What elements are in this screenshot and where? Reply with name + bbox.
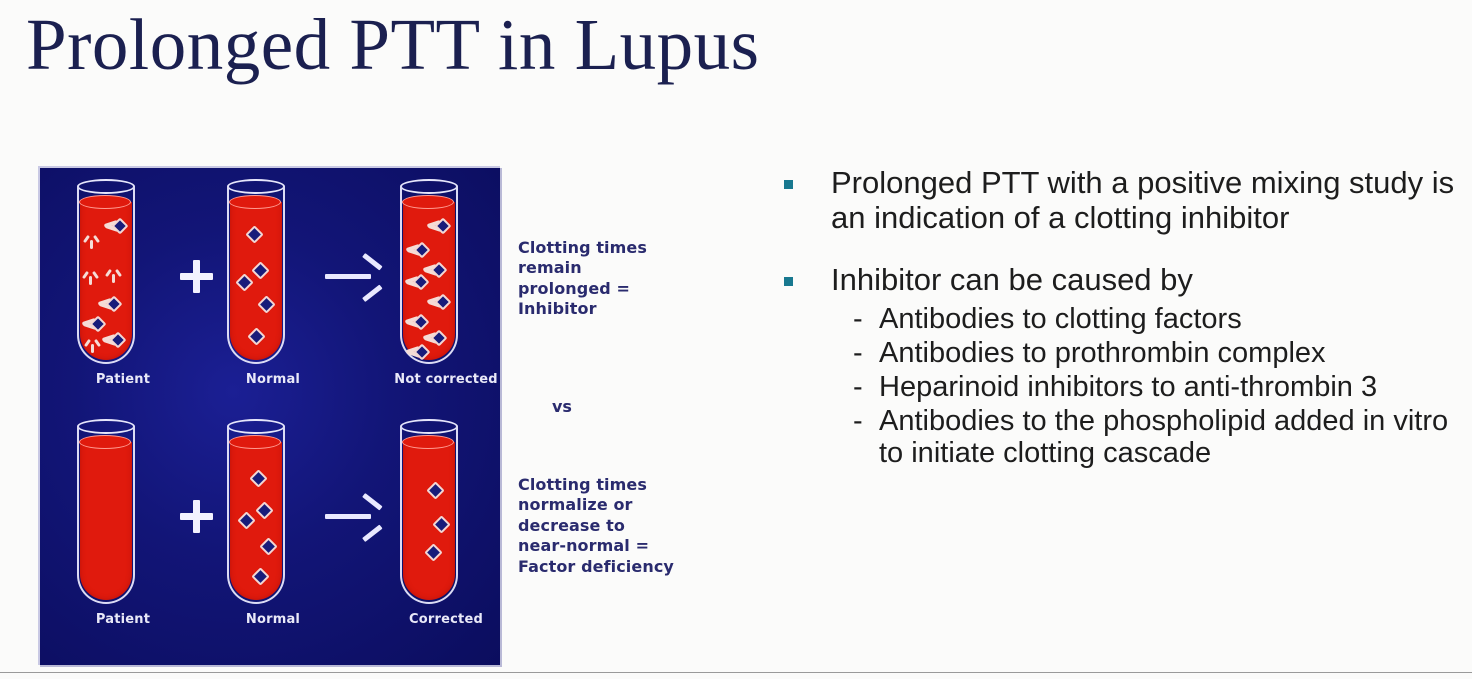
antibody-factor-complex-icon: [104, 218, 126, 234]
caption-vs: vs: [552, 397, 572, 416]
antibody-icon: [84, 234, 100, 249]
sub-bullet-item: - Antibodies to the phospholipid added i…: [831, 406, 1465, 470]
clotting-factor-icon: [257, 295, 275, 313]
sub-bullet-item: - Heparinoid inhibitors to anti-thrombin…: [831, 372, 1465, 404]
sub-bullet-text: Heparinoid inhibitors to anti-thrombin 3: [879, 371, 1377, 403]
tube-label: Patient: [62, 372, 184, 387]
antibody-factor-complex-icon: [98, 296, 120, 312]
clotting-factor-icon: [237, 511, 255, 529]
bottom-divider: [0, 672, 1472, 673]
bullet-text: Inhibitor can be caused by: [831, 263, 1465, 298]
tube-label: Normal: [212, 612, 334, 627]
caption-factor-deficiency: Clotting times normalize or decrease to …: [518, 475, 728, 577]
sub-bullet-text: Antibodies to clotting factors: [879, 303, 1242, 335]
antibody-icon: [83, 270, 99, 285]
clotting-factor-icon: [424, 543, 442, 561]
plus-icon: [180, 500, 214, 534]
diagram-row-inhibitor: Patient Normal: [40, 176, 500, 406]
dash-bullet-icon: -: [853, 406, 863, 438]
dash-bullet-icon: -: [853, 338, 863, 370]
plus-icon: [180, 260, 214, 294]
tube-patient-factor: Patient: [62, 416, 154, 608]
antibody-factor-complex-icon: [406, 344, 428, 360]
sub-bullet-item: - Antibodies to prothrombin complex: [831, 338, 1465, 370]
clotting-factor-icon: [251, 567, 269, 585]
arrow-right-icon: [325, 264, 383, 290]
antibody-factor-complex-icon: [82, 316, 104, 332]
tube-label: Patient: [62, 612, 184, 627]
square-bullet-icon: [784, 180, 793, 189]
tube-label: Normal: [212, 372, 334, 387]
tube-label: Corrected: [385, 612, 500, 627]
antibody-factor-complex-icon: [102, 332, 124, 348]
dash-bullet-icon: -: [853, 304, 863, 336]
bullet-text: Prolonged PTT with a positive mixing stu…: [831, 166, 1465, 235]
clotting-factor-icon: [255, 501, 273, 519]
antibody-factor-complex-icon: [405, 274, 427, 290]
clotting-factor-icon: [247, 327, 265, 345]
tube-normal-inhibitor: Normal: [212, 176, 304, 368]
tube-fluid-icon: [403, 442, 455, 600]
sub-bullet-item: - Antibodies to clotting factors: [831, 304, 1465, 336]
caption-inhibitor: Clotting times remain prolonged = Inhibi…: [518, 238, 718, 320]
sub-bullet-text: Antibodies to prothrombin complex: [879, 337, 1326, 369]
tube-fluid-icon: [80, 202, 132, 360]
dash-bullet-icon: -: [853, 372, 863, 404]
tube-corrected: Corrected: [385, 416, 477, 608]
clotting-factor-icon: [259, 537, 277, 555]
antibody-icon: [106, 268, 122, 283]
clotting-factor-icon: [235, 273, 253, 291]
antibody-icon: [85, 338, 101, 353]
sub-bullet-text: Antibodies to the phospholipid added in …: [879, 405, 1448, 469]
square-bullet-icon: [784, 277, 793, 286]
tube-not-corrected: Not corrected: [385, 176, 477, 368]
bullet-item: Inhibitor can be caused by - Antibodies …: [775, 263, 1465, 469]
tube-normal-factor: Normal: [212, 416, 304, 608]
clotting-factor-icon: [249, 469, 267, 487]
mixing-study-diagram: Patient Normal: [38, 166, 500, 665]
page-title: Prolonged PTT in Lupus: [26, 8, 760, 81]
tube-fluid-icon: [80, 442, 132, 600]
tube-fluid-icon: [230, 442, 282, 600]
diagram-row-factor-deficiency: Patient Normal: [40, 416, 500, 646]
presentation-slide: Prolonged PTT in Lupus: [0, 0, 1472, 679]
arrow-right-icon: [325, 504, 383, 530]
antibody-factor-complex-icon: [405, 314, 427, 330]
antibody-factor-complex-icon: [406, 242, 428, 258]
bullet-list: Prolonged PTT with a positive mixing stu…: [775, 166, 1465, 498]
antibody-factor-complex-icon: [427, 294, 449, 310]
clotting-factor-icon: [432, 515, 450, 533]
clotting-factor-icon: [251, 261, 269, 279]
antibody-factor-complex-icon: [427, 218, 449, 234]
tube-fluid-icon: [403, 202, 455, 360]
bullet-item: Prolonged PTT with a positive mixing stu…: [775, 166, 1465, 235]
sub-bullet-list: - Antibodies to clotting factors - Antib…: [831, 304, 1465, 469]
tube-patient-inhibitor: Patient: [62, 176, 154, 368]
clotting-factor-icon: [426, 481, 444, 499]
tube-fluid-icon: [230, 202, 282, 360]
tube-label: Not corrected: [385, 372, 500, 387]
clotting-factor-icon: [245, 225, 263, 243]
